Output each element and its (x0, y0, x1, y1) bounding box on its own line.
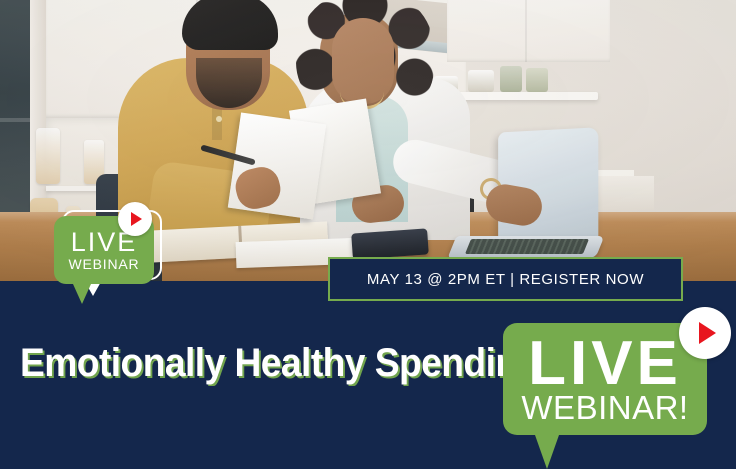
badge-bubble-tail (535, 435, 559, 469)
badge-webinar-label: WEBINAR (54, 257, 154, 272)
man-hair (182, 0, 278, 50)
live-webinar-badge-large: LIVE WEBINAR! (503, 307, 736, 469)
play-icon[interactable] (679, 307, 731, 359)
badge-bubble-tail (73, 284, 91, 304)
smartphone (351, 228, 429, 259)
webinar-promo-banner: Emotionally Healthy Spending MAY 13 @ 2P… (0, 0, 736, 469)
play-icon[interactable] (118, 202, 152, 236)
page-title: Emotionally Healthy Spending (20, 341, 485, 386)
shirt-button (216, 116, 222, 122)
upper-cabinets-right (447, 0, 610, 62)
register-cta-bar[interactable]: MAY 13 @ 2PM ET | REGISTER NOW (328, 257, 683, 301)
laptop-keyboard (465, 239, 589, 254)
register-cta-text: MAY 13 @ 2PM ET | REGISTER NOW (367, 271, 644, 288)
canister (468, 70, 494, 92)
badge-live-label: LIVE (503, 333, 707, 395)
storage-jar (36, 128, 60, 184)
canister (526, 68, 548, 92)
canister (500, 66, 522, 92)
live-webinar-badge-small: LIVE WEBINAR (48, 202, 164, 298)
dark-cabinet (0, 0, 34, 232)
badge-webinar-label: WEBINAR! (503, 391, 707, 425)
